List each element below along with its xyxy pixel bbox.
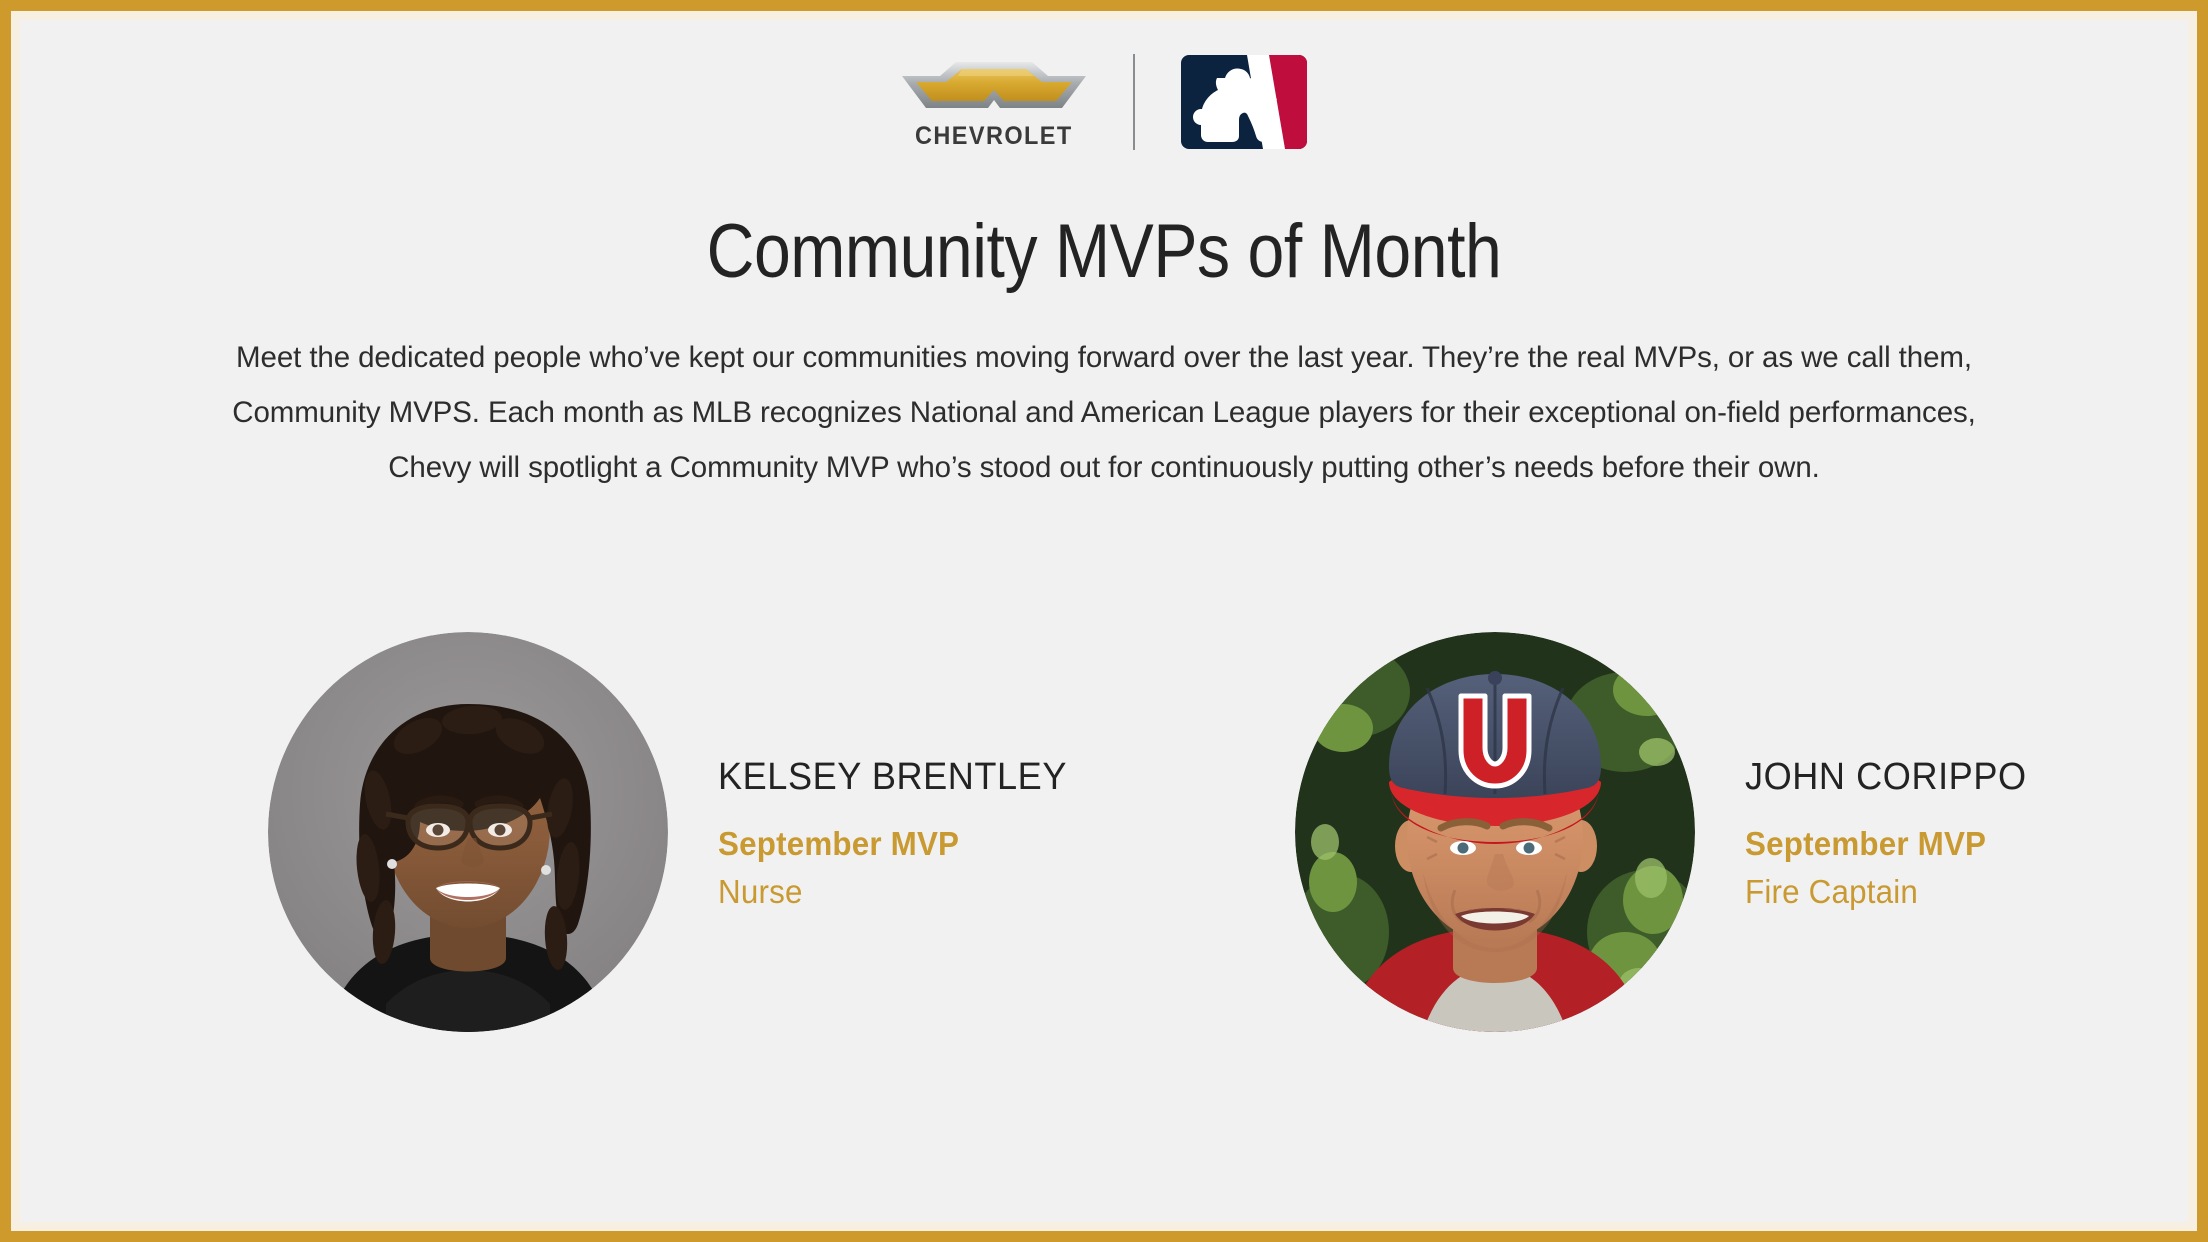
chevrolet-wordmark: CHEVROLET [915, 124, 1073, 149]
portrait-image [268, 632, 668, 1032]
chevrolet-bowtie-icon [896, 56, 1092, 118]
logo-row: CHEVROLET [20, 44, 2188, 160]
logo-divider [1133, 54, 1135, 150]
mvp-month-badge: September MVP [1745, 823, 2027, 865]
mlb-logo-block [1169, 55, 1319, 149]
mvp-text-block: KELSEY BRENTLEY September MVP Nurse [718, 751, 1085, 913]
portrait-image [1295, 632, 1695, 1032]
mvp-card: JOHN CORIPPO September MVP Fire Captain [1295, 632, 2041, 1032]
portrait-kelsey-brentley [268, 632, 668, 1032]
page-title: Community MVPs of Month [161, 212, 2047, 292]
mvp-text-block: JOHN CORIPPO September MVP Fire Captain [1745, 751, 2041, 913]
mvp-card: KELSEY BRENTLEY September MVP Nurse [268, 632, 1085, 1032]
mvp-name: JOHN CORIPPO [1745, 755, 2027, 801]
mvp-month-badge: September MVP [718, 823, 1067, 865]
intro-paragraph: Meet the dedicated people who’ve kept ou… [224, 330, 1984, 495]
gold-frame: CHEVROLET [0, 0, 2208, 1242]
portrait-john-corippo [1295, 632, 1695, 1032]
chevrolet-logo-block: CHEVROLET [889, 56, 1099, 149]
mvp-name: KELSEY BRENTLEY [718, 755, 1067, 801]
frame-inner-band: CHEVROLET [11, 11, 2197, 1231]
mvp-role: Nurse [718, 871, 1067, 913]
poster-canvas: CHEVROLET [20, 20, 2188, 1222]
mvp-grid: KELSEY BRENTLEY September MVP Nurse [20, 632, 2188, 1032]
mlb-logo-icon [1181, 55, 1307, 149]
mvp-role: Fire Captain [1745, 871, 2027, 913]
